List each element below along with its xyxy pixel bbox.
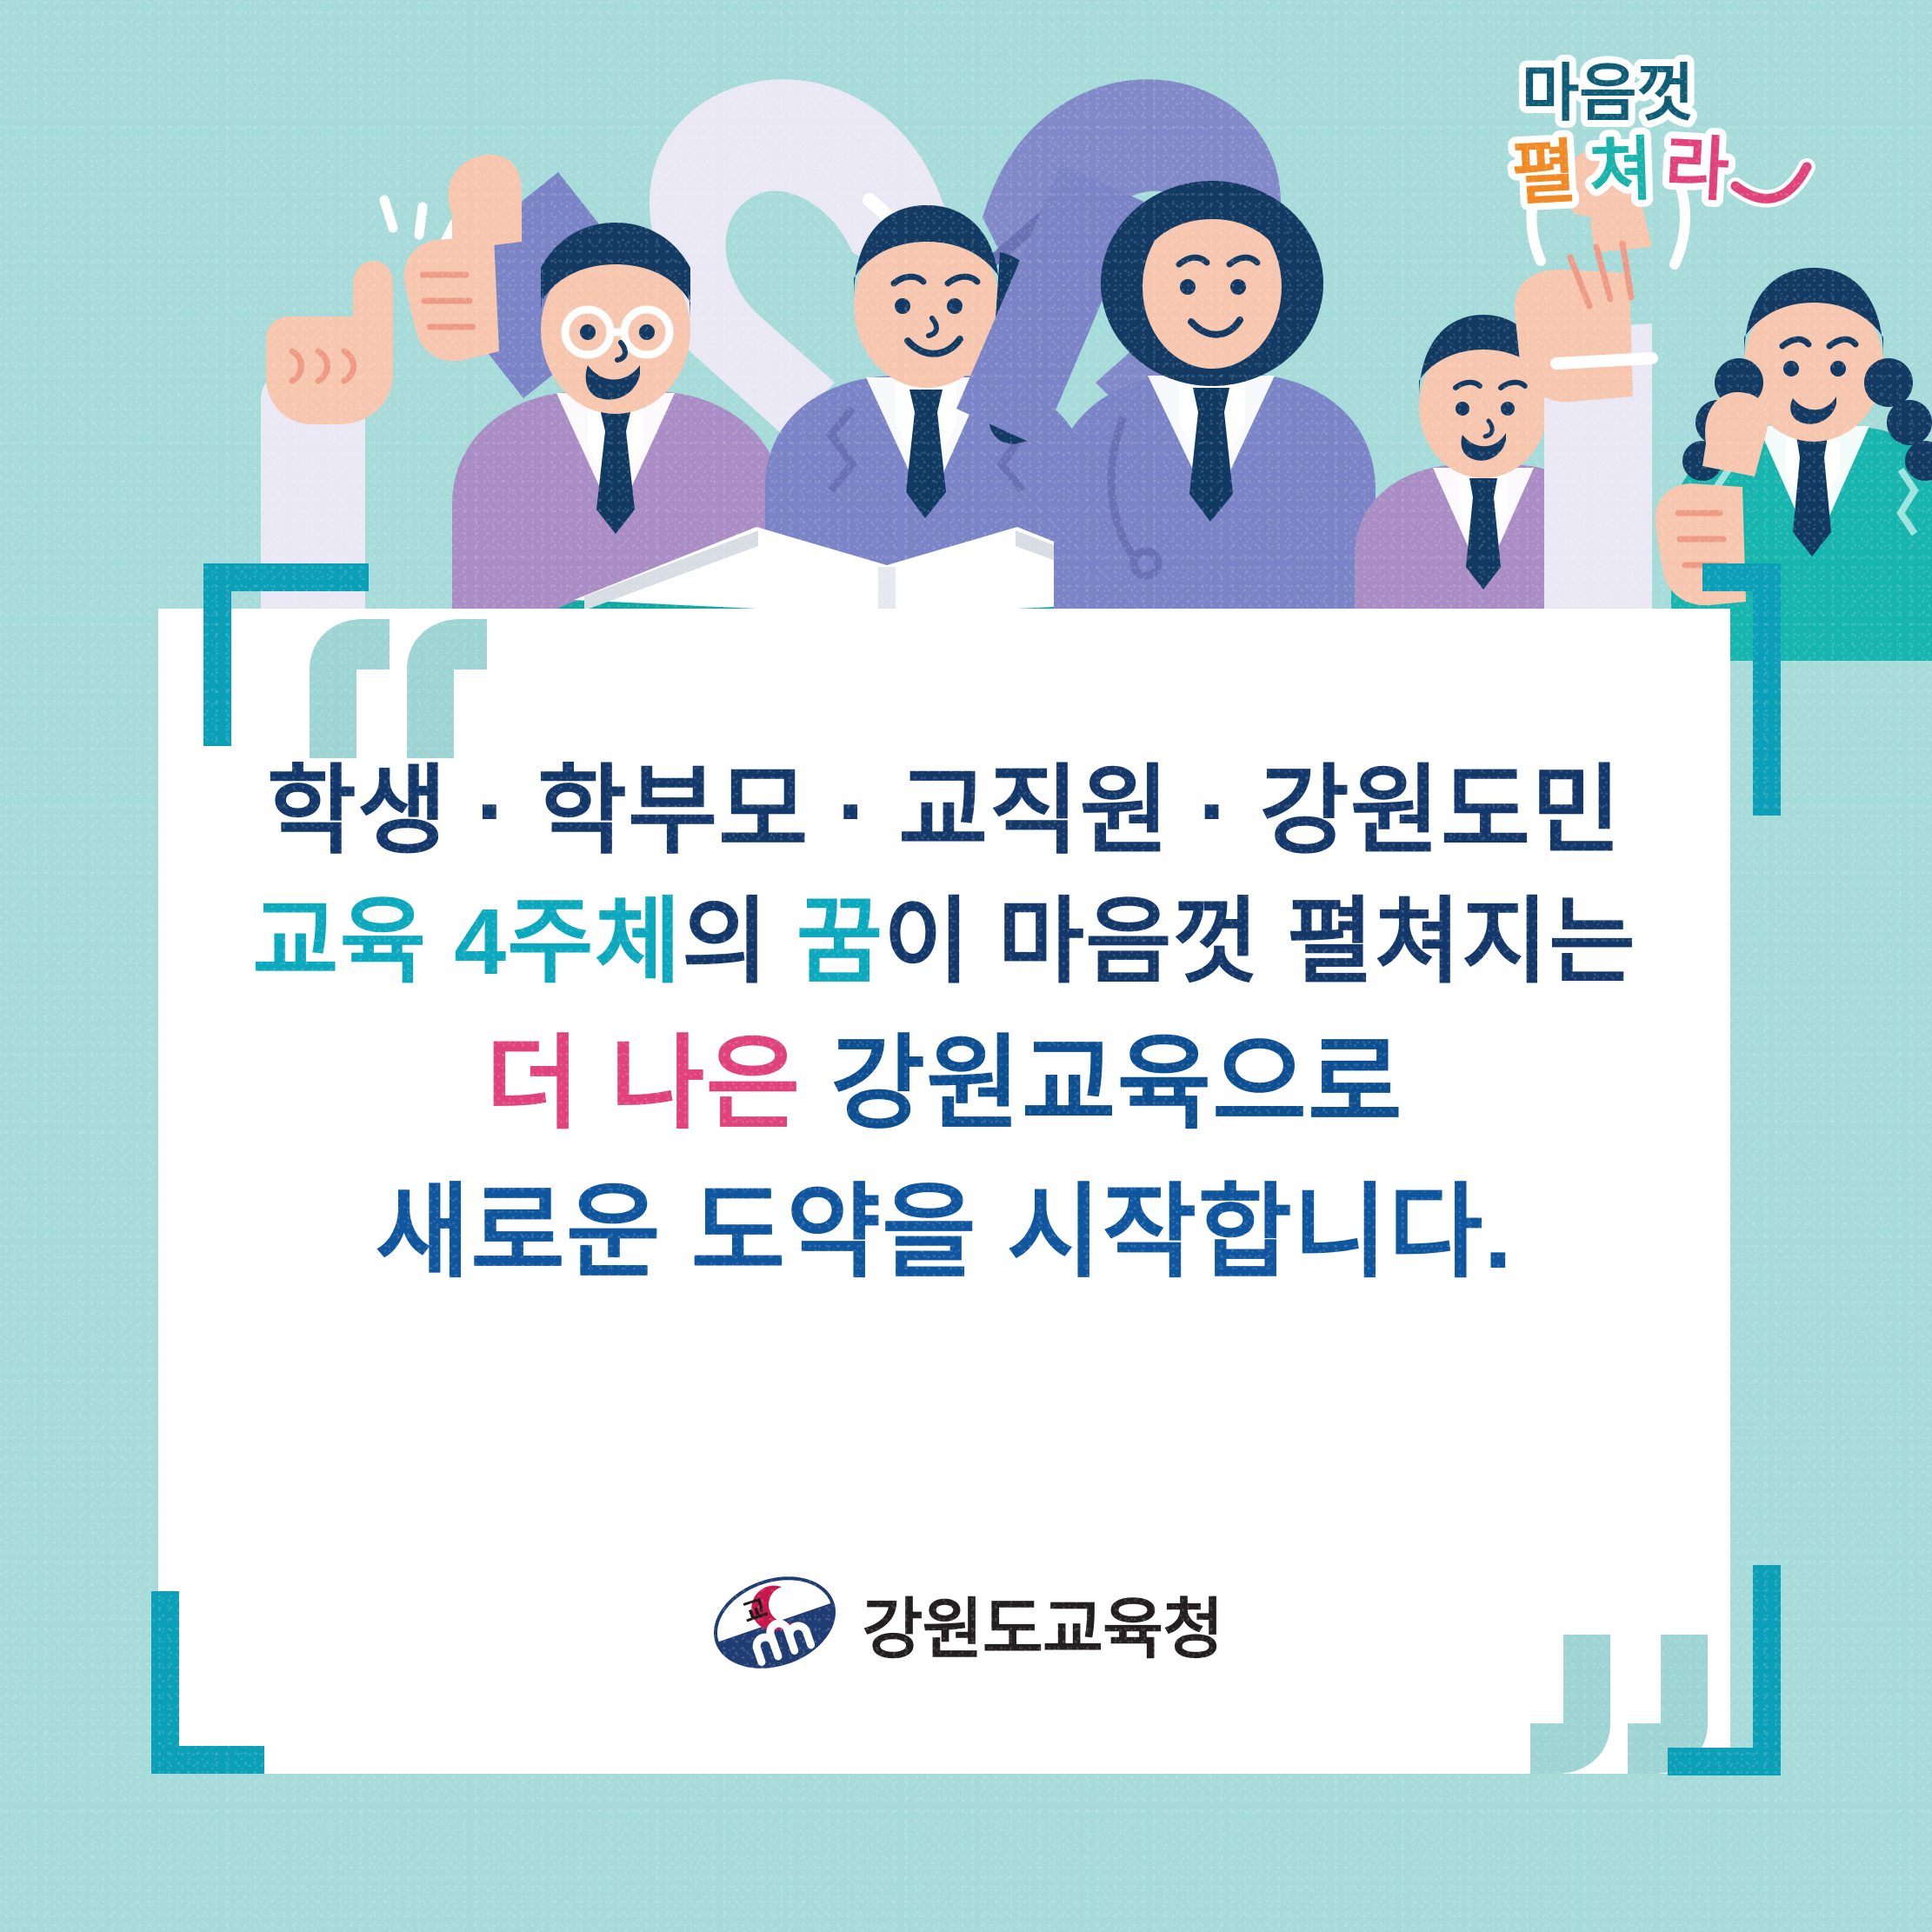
corner-bracket-bottom-right — [1668, 1565, 1781, 1775]
organization-name: 강원도교육청 — [863, 1576, 1223, 1671]
organization-logo: 교 강원도교육청 — [0, 1565, 1932, 1682]
message-line-3-seg-2: 강원교육으로 — [830, 1027, 1402, 1142]
message-line-4: 새로운 도약을 시작합니다. — [158, 1162, 1730, 1305]
message-line-3-seg-1: 더 나은 — [485, 1027, 830, 1142]
promo-card: 마음껏 마음껏 펼 펼 쳐 쳐 라 라 — [0, 0, 1932, 1932]
message-line-2: 교육 4주체의 꿈이 마음껏 펼쳐지는 — [158, 875, 1730, 1008]
message-line-2-seg-4: 이 마음껏 펼쳐지는 — [883, 889, 1636, 994]
message-line-2-seg-2: 의 — [682, 889, 796, 994]
corner-bracket-bottom-left — [151, 1591, 264, 1774]
message-line-2-seg-1: 교육 4주체 — [252, 889, 682, 994]
brand-char-3: 라 — [1663, 129, 1731, 210]
corner-bracket-top-right — [1702, 563, 1781, 816]
message-block: 학생 · 학부모 · 교직원 · 강원도민 교육 4주체의 꿈이 마음껏 펼쳐지… — [158, 748, 1730, 1305]
message-line-1: 학생 · 학부모 · 교직원 · 강원도민 — [158, 748, 1730, 875]
message-line-3: 더 나은 강원교육으로 — [158, 1008, 1730, 1162]
corner-bracket-top-left — [203, 563, 369, 746]
brand-char-1: 펼 — [1510, 132, 1578, 213]
brand-char-2: 쳐 — [1588, 130, 1655, 210]
message-line-2-seg-3: 꿈 — [796, 889, 883, 994]
gangwon-education-emblem-icon: 교 — [710, 1565, 840, 1682]
brand-slogan-logo: 마음껏 마음껏 펼 펼 쳐 쳐 라 라 — [1490, 40, 1855, 240]
brand-line1: 마음껏 — [1522, 59, 1695, 129]
